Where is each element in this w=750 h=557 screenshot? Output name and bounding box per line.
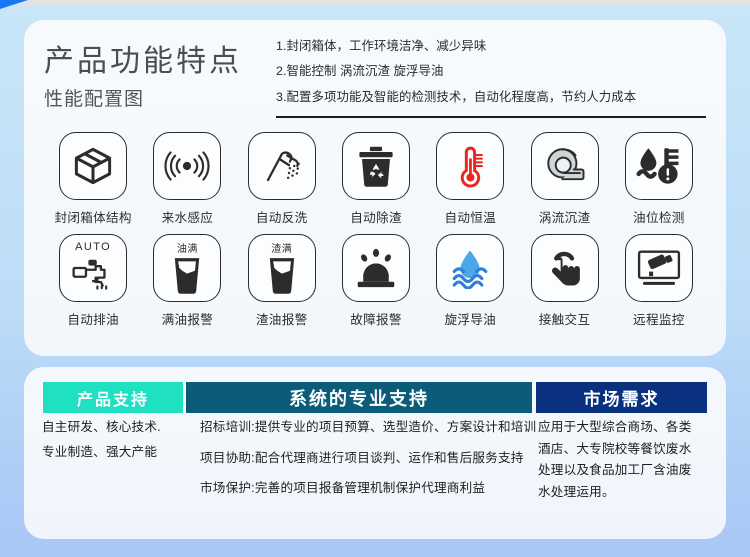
page-title: 产品功能特点 [44,44,274,79]
oil-full-cup-icon[interactable]: 油满 [153,234,221,302]
feature-cell[interactable]: 封闭箱体结构 [46,132,140,226]
feature-cell[interactable]: 渣满渣油报警 [235,234,329,328]
vortex-fan-icon[interactable] [531,132,599,200]
feature-cell[interactable]: 涡流沉渣 [517,132,611,226]
panel-banner-system-support: 系统的专业支持 [186,382,532,413]
feature-label: 渣油报警 [256,309,308,328]
slag-full-cup-icon[interactable]: 渣满 [248,234,316,302]
panel-body-line: 应用于大型综合商场、各类 [538,421,710,434]
box-icon[interactable] [59,132,127,200]
support-card: 产品支持 系统的专业支持 市场需求 自主研发、核心技术.专业制造、强大产能 招标… [24,367,726,539]
feature-icon-grid: 封闭箱体结构 来水感应 自动反洗 自动除渣 自动恒温 涡流沉渣 [46,132,706,328]
thermometer-icon[interactable] [436,132,504,200]
feature-label: 封闭箱体结构 [54,207,131,226]
feature-cell[interactable]: AUTO自动排油 [46,234,140,328]
feature-label: 涡流沉渣 [539,207,591,226]
feature-label: 自动反洗 [256,207,308,226]
panel-banner-product-support: 产品支持 [43,382,183,413]
touch-hand-icon[interactable] [531,234,599,302]
top-gray-strip [0,0,750,6]
feature-cell[interactable]: 远程监控 [612,234,706,328]
feature-label: 远程监控 [633,309,685,328]
oil-level-alert-icon[interactable] [625,132,693,200]
panel-banner-row: 产品支持 系统的专业支持 市场需求 [24,382,726,413]
panel-body-line: 招标培训:提供专业的项目预算、选型造价、方案设计和培训 [200,421,530,434]
panel-body-system-support: 招标培训:提供专业的项目预算、选型造价、方案设计和培训项目协助:配合代理商进行项… [200,421,530,513]
panel-body-line: 处理以及食品加工厂含油废 [538,464,710,477]
panel-body-line: 项目协助:配合代理商进行项目谈判、运作和售后服务支持 [200,452,530,465]
bullet-item: 3.配置多项功能及智能的检测技术，自动化程度高，节约人力成本 [276,91,706,103]
alarm-siren-icon[interactable] [342,234,410,302]
panel-body-product-support: 自主研发、核心技术.专业制造、强大产能 [42,421,194,470]
blue-corner-triangle-icon [0,0,28,9]
water-drop-wave-icon[interactable] [436,234,504,302]
panel-body-line: 酒店、大专院校等餐饮废水 [538,443,710,456]
feature-cell[interactable]: 油位检测 [612,132,706,226]
signal-wave-icon[interactable] [153,132,221,200]
bullet-item: 2.智能控制 涡流沉渣 旋浮导油 [276,65,706,77]
features-card: 产品功能特点 性能配置图 1.封闭箱体，工作环境洁净、减少异味 2.智能控制 涡… [24,20,726,356]
panel-body-line: 市场保护:完善的项目报备管理机制保护代理商利益 [200,482,530,495]
panel-body-line: 专业制造、强大产能 [42,446,194,459]
feature-cell[interactable]: 自动反洗 [235,132,329,226]
feature-label: 油位检测 [633,207,685,226]
bullet-item: 1.封闭箱体，工作环境洁净、减少异味 [276,40,706,52]
icon-caption: 渣满 [249,240,315,255]
bullet-list: 1.封闭箱体，工作环境洁净、减少异味 2.智能控制 涡流沉渣 旋浮导油 3.配置… [276,40,706,118]
title-block: 产品功能特点 性能配置图 [44,44,274,111]
feature-label: 接触交互 [539,309,591,328]
feature-cell[interactable]: 来水感应 [140,132,234,226]
auto-faucet-icon[interactable]: AUTO [59,234,127,302]
feature-label: 故障报警 [350,309,402,328]
feature-label: 自动排油 [67,309,119,328]
feature-label: 满油报警 [162,309,214,328]
feature-cell[interactable]: 故障报警 [329,234,423,328]
panel-body-line: 水处理运用。 [538,486,710,499]
feature-cell[interactable]: 自动恒温 [423,132,517,226]
feature-label: 旋浮导油 [444,309,496,328]
feature-cell[interactable]: 油满满油报警 [140,234,234,328]
feature-label: 自动恒温 [444,207,496,226]
remote-monitor-icon[interactable] [625,234,693,302]
bullet-divider [276,116,706,118]
card-header: 产品功能特点 性能配置图 1.封闭箱体，工作环境洁净、减少异味 2.智能控制 涡… [24,20,726,130]
icon-caption: AUTO [60,241,126,253]
panel-body-line: 自主研发、核心技术. [42,421,194,434]
panel-banner-market-demand: 市场需求 [536,382,707,413]
recycle-bin-icon[interactable] [342,132,410,200]
feature-cell[interactable]: 自动除渣 [329,132,423,226]
feature-cell[interactable]: 旋浮导油 [423,234,517,328]
page-subtitle: 性能配置图 [44,84,274,111]
icon-caption: 油满 [154,240,220,255]
shower-spray-icon[interactable] [248,132,316,200]
panel-body-market-demand: 应用于大型综合商场、各类酒店、大专院校等餐饮废水处理以及食品加工厂含油废水处理运… [538,421,710,507]
feature-label: 来水感应 [162,207,214,226]
feature-label: 自动除渣 [350,207,402,226]
feature-cell[interactable]: 接触交互 [517,234,611,328]
infographic-page: 产品功能特点 性能配置图 1.封闭箱体，工作环境洁净、减少异味 2.智能控制 涡… [0,0,750,557]
